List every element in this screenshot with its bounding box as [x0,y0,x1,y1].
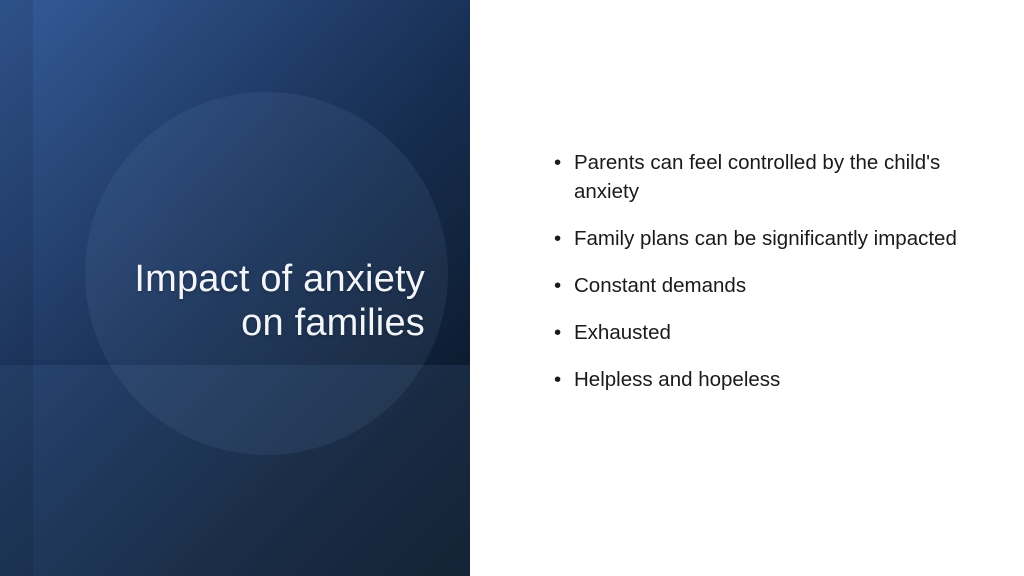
list-item: • Exhausted [548,318,968,347]
bullet-point-icon: • [554,318,568,347]
bullet-point-icon: • [554,365,568,394]
bullet-point-icon: • [554,224,568,253]
slide-title: Impact of anxiety on families [40,257,425,345]
horizontal-band-decoration [0,365,470,576]
vertical-band-decoration [0,0,33,576]
bullet-point-icon: • [554,271,568,300]
bullet-point-icon: • [554,148,568,177]
list-item: • Parents can feel controlled by the chi… [548,148,968,206]
list-item-label: Constant demands [574,271,968,300]
list-item-label: Helpless and hopeless [574,365,968,394]
list-item-label: Family plans can be significantly impact… [574,224,968,253]
bullet-list: • Parents can feel controlled by the chi… [548,148,968,394]
title-panel: Impact of anxiety on families [0,0,470,576]
list-item: • Constant demands [548,271,968,300]
list-item-label: Exhausted [574,318,968,347]
list-item-label: Parents can feel controlled by the child… [574,148,968,206]
list-item: • Family plans can be significantly impa… [548,224,968,253]
list-item: • Helpless and hopeless [548,365,968,394]
presentation-slide: Impact of anxiety on families • Parents … [0,0,1024,576]
content-panel: • Parents can feel controlled by the chi… [470,0,1024,576]
